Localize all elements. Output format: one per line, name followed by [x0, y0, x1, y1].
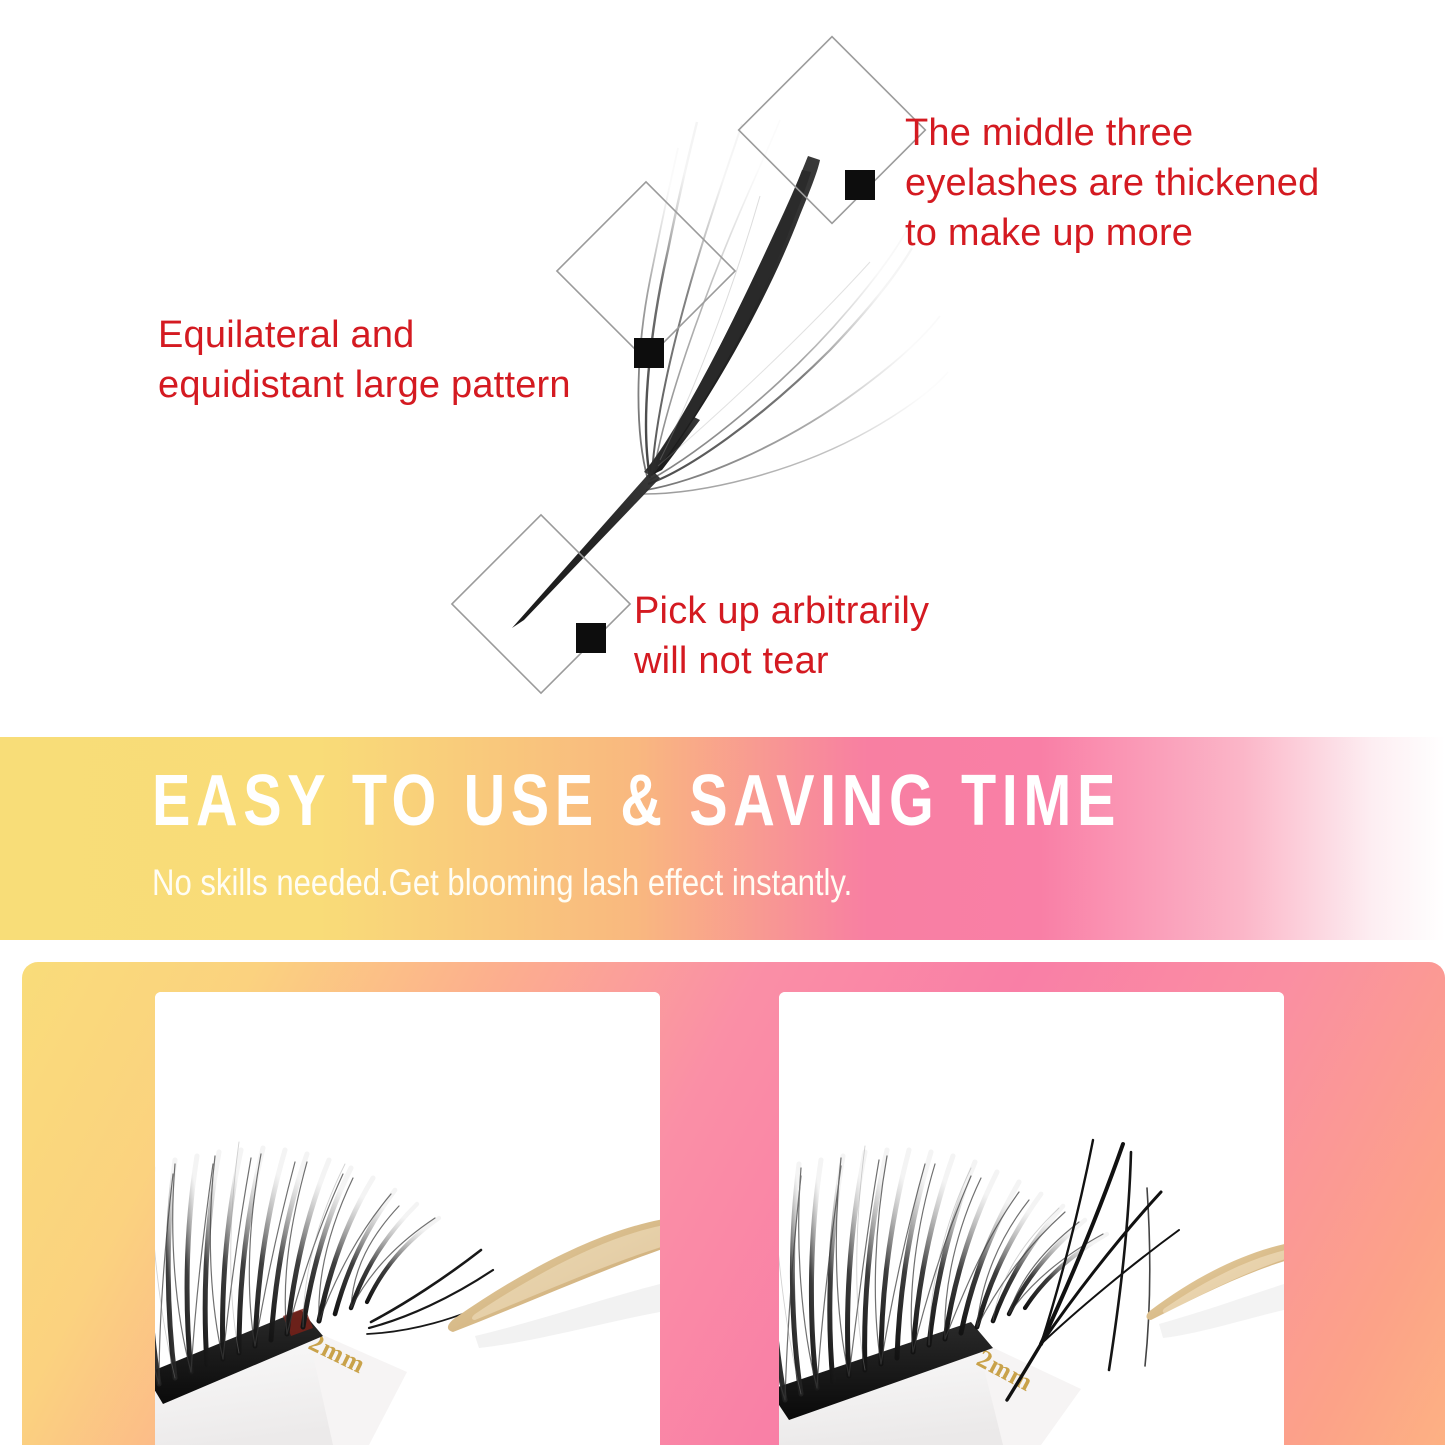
callout-thickened-lashes: The middle three eyelashes are thickened…	[905, 108, 1319, 258]
diamond-marker-middle	[557, 182, 735, 360]
feature-section: The middle three eyelashes are thickened…	[0, 0, 1445, 737]
diamond-marker-top	[739, 37, 926, 224]
lash-tray-tweezer-photo-left: 2mm	[155, 992, 660, 1445]
callout-equilateral-pattern: Equilateral and equidistant large patter…	[158, 310, 571, 410]
product-gallery-panel: 2mm	[22, 962, 1445, 1445]
gallery-card-left[interactable]: 2mm	[155, 992, 660, 1445]
square-accent-middle	[634, 338, 664, 368]
banner-headline: EASY TO USE & SAVING TIME	[152, 765, 1121, 837]
promo-banner: EASY TO USE & SAVING TIME No skills need…	[0, 737, 1445, 940]
gallery-card-right[interactable]: 2mm	[779, 992, 1284, 1445]
square-accent-bottom	[576, 623, 606, 653]
lash-tray-fan-pickup-photo-right: 2mm	[779, 992, 1284, 1445]
callout-no-tear: Pick up arbitrarily will not tear	[634, 586, 929, 686]
square-accent-top	[845, 170, 875, 200]
banner-subheadline: No skills needed.Get blooming lash effec…	[152, 864, 852, 901]
diamond-marker-bottom	[452, 515, 630, 693]
